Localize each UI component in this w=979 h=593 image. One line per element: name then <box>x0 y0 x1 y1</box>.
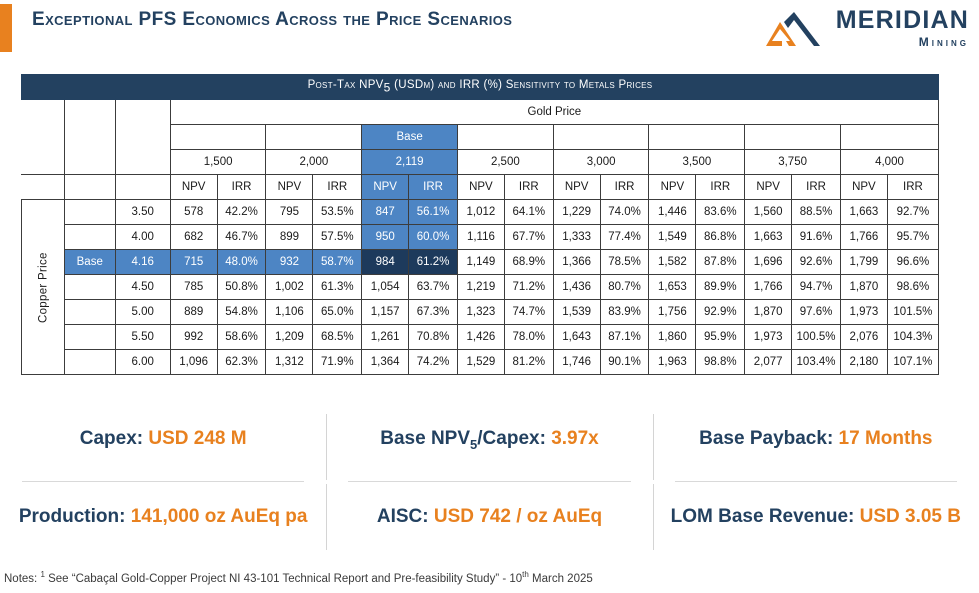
table-row: Copper Price3.5057842.2%79553.5%84756.1%… <box>22 200 939 225</box>
data-cell: 74.2% <box>409 350 458 375</box>
metric-value: 141,000 oz AuEq pa <box>131 506 308 527</box>
base-tag-spacer <box>745 125 841 150</box>
data-cell: 847 <box>362 200 409 225</box>
base-row-spacer <box>64 275 115 300</box>
company-logo: MERIDIAN Mining <box>764 8 969 48</box>
data-cell: 1,663 <box>840 200 887 225</box>
data-cell: 899 <box>266 225 313 250</box>
data-cell: 1,973 <box>745 325 792 350</box>
data-cell: 61.2% <box>409 250 458 275</box>
data-cell: 785 <box>170 275 217 300</box>
data-cell: 992 <box>170 325 217 350</box>
data-cell: 2,077 <box>745 350 792 375</box>
data-cell: 98.8% <box>696 350 745 375</box>
data-cell: 98.6% <box>887 275 938 300</box>
metric-card: AISC: USD 742 / oz AuEq <box>326 482 652 552</box>
metric-value: USD 742 / oz AuEq <box>434 506 602 527</box>
base-row-spacer <box>64 200 115 225</box>
data-cell: 1,870 <box>745 300 792 325</box>
metric-text: Base NPV5/Capex: 3.97x <box>380 428 598 452</box>
data-cell: 42.2% <box>217 200 266 225</box>
data-cell: 57.5% <box>313 225 362 250</box>
metric-text: LOM Base Revenue: USD 3.05 B <box>671 506 961 528</box>
data-cell: 984 <box>362 250 409 275</box>
data-cell: 58.7% <box>313 250 362 275</box>
data-cell: 1,261 <box>362 325 409 350</box>
mountain-logo-icon <box>764 8 826 48</box>
table-row: 5.0088954.8%1,10665.0%1,15767.3%1,32374.… <box>22 300 939 325</box>
data-cell: 682 <box>170 225 217 250</box>
data-cell: 1,963 <box>649 350 696 375</box>
data-cell: 1,529 <box>457 350 504 375</box>
sub-header-npv: NPV <box>170 175 217 200</box>
data-cell: 70.8% <box>409 325 458 350</box>
data-cell: 83.6% <box>696 200 745 225</box>
data-cell: 1,766 <box>840 225 887 250</box>
data-cell: 61.3% <box>313 275 362 300</box>
corner-blank-4 <box>22 175 65 200</box>
table-row: 4.0068246.7%89957.5%95060.0%1,11667.7%1,… <box>22 225 939 250</box>
table-row: Base4.1671548.0%93258.7%98461.2%1,14968.… <box>22 250 939 275</box>
data-cell: 1,446 <box>649 200 696 225</box>
data-cell: 103.4% <box>792 350 841 375</box>
corner-blank <box>22 100 65 175</box>
data-cell: 1,157 <box>362 300 409 325</box>
sub-header-npv: NPV <box>457 175 504 200</box>
sub-header-irr: IRR <box>792 175 841 200</box>
data-cell: 932 <box>266 250 313 275</box>
data-cell: 71.2% <box>504 275 553 300</box>
base-row-spacer <box>64 325 115 350</box>
logo-wordmark: MERIDIAN Mining <box>836 8 969 48</box>
gold-price-3500: 3,500 <box>649 150 745 175</box>
metrics-section: Capex: USD 248 MBase NPV5/Capex: 3.97xBa… <box>0 412 979 552</box>
data-cell: 54.8% <box>217 300 266 325</box>
data-cell: 1,653 <box>649 275 696 300</box>
base-tag-spacer <box>170 125 266 150</box>
base-row-spacer <box>64 225 115 250</box>
data-cell: 67.7% <box>504 225 553 250</box>
copper-price-600: 6.00 <box>115 350 170 375</box>
data-cell: 92.7% <box>887 200 938 225</box>
data-cell: 68.5% <box>313 325 362 350</box>
corner-blank-5 <box>64 175 115 200</box>
copper-price-450: 4.50 <box>115 275 170 300</box>
data-cell: 87.8% <box>696 250 745 275</box>
gold-price-2119: 2,119 <box>362 150 458 175</box>
data-cell: 1,106 <box>266 300 313 325</box>
data-cell: 1,766 <box>745 275 792 300</box>
data-cell: 1,436 <box>553 275 600 300</box>
table-row: 6.001,09662.3%1,31271.9%1,36474.2%1,5298… <box>22 350 939 375</box>
corner-blank-2 <box>64 100 115 175</box>
data-cell: 83.9% <box>600 300 649 325</box>
sensitivity-table: Post-Tax NPV5 (USDm) and IRR (%) Sensiti… <box>21 74 939 375</box>
logo-main-text: MERIDIAN <box>836 8 969 33</box>
data-cell: 95.9% <box>696 325 745 350</box>
copper-price-500: 5.00 <box>115 300 170 325</box>
base-tag-spacer <box>649 125 745 150</box>
data-cell: 1,364 <box>362 350 409 375</box>
slide-root: Exceptional PFS Economics Across the Pri… <box>0 0 979 593</box>
logo-sub-text: Mining <box>919 36 969 48</box>
data-cell: 48.0% <box>217 250 266 275</box>
metric-card: LOM Base Revenue: USD 3.05 B <box>653 482 979 552</box>
data-cell: 97.6% <box>792 300 841 325</box>
sub-header-irr: IRR <box>600 175 649 200</box>
metric-value: 3.97x <box>551 428 599 449</box>
data-cell: 889 <box>170 300 217 325</box>
data-cell: 1,870 <box>840 275 887 300</box>
metric-text: AISC: USD 742 / oz AuEq <box>377 506 602 528</box>
data-cell: 1,312 <box>266 350 313 375</box>
data-cell: 64.1% <box>504 200 553 225</box>
metrics-row-2: Production: 141,000 oz AuEq paAISC: USD … <box>0 482 979 552</box>
metric-card: Base Payback: 17 Months <box>653 412 979 482</box>
data-cell: 92.6% <box>792 250 841 275</box>
data-cell: 795 <box>266 200 313 225</box>
data-cell: 1,539 <box>553 300 600 325</box>
accent-bar <box>0 4 12 52</box>
data-cell: 104.3% <box>887 325 938 350</box>
data-cell: 90.1% <box>600 350 649 375</box>
sub-header-irr: IRR <box>409 175 458 200</box>
copper-price-400: 4.00 <box>115 225 170 250</box>
data-cell: 95.7% <box>887 225 938 250</box>
base-row-tag: Base <box>64 250 115 275</box>
data-cell: 1,426 <box>457 325 504 350</box>
data-cell: 92.9% <box>696 300 745 325</box>
data-cell: 1,756 <box>649 300 696 325</box>
sub-header-npv: NPV <box>266 175 313 200</box>
data-cell: 62.3% <box>217 350 266 375</box>
data-cell: 100.5% <box>792 325 841 350</box>
data-cell: 1,663 <box>745 225 792 250</box>
data-cell: 78.0% <box>504 325 553 350</box>
gold-price-2000: 2,000 <box>266 150 362 175</box>
metric-value: USD 3.05 B <box>860 506 961 527</box>
gold-price-2500: 2,500 <box>457 150 553 175</box>
data-cell: 1,219 <box>457 275 504 300</box>
base-tag-spacer <box>840 125 938 150</box>
gold-price-header-row: Gold Price <box>22 100 939 125</box>
data-cell: 1,582 <box>649 250 696 275</box>
table-banner: Post-Tax NPV5 (USDm) and IRR (%) Sensiti… <box>22 75 939 100</box>
gold-price-label: Gold Price <box>170 100 938 125</box>
base-row-spacer <box>64 350 115 375</box>
gold-price-1500: 1,500 <box>170 150 266 175</box>
sub-header-irr: IRR <box>217 175 266 200</box>
data-cell: 101.5% <box>887 300 938 325</box>
sub-header-irr: IRR <box>887 175 938 200</box>
data-cell: 2,076 <box>840 325 887 350</box>
sub-header-npv: NPV <box>840 175 887 200</box>
data-cell: 63.7% <box>409 275 458 300</box>
footer-note: Notes: 1 See “Cabaçal Gold-Copper Projec… <box>4 570 593 585</box>
table-row: 5.5099258.6%1,20968.5%1,26170.8%1,42678.… <box>22 325 939 350</box>
data-cell: 1,746 <box>553 350 600 375</box>
sub-header-irr: IRR <box>504 175 553 200</box>
gold-price-3750: 3,750 <box>745 150 841 175</box>
data-cell: 107.1% <box>887 350 938 375</box>
data-cell: 1,096 <box>170 350 217 375</box>
data-cell: 50.8% <box>217 275 266 300</box>
copper-price-550: 5.50 <box>115 325 170 350</box>
data-cell: 68.9% <box>504 250 553 275</box>
data-cell: 1,209 <box>266 325 313 350</box>
data-cell: 46.7% <box>217 225 266 250</box>
data-cell: 1,012 <box>457 200 504 225</box>
data-cell: 88.5% <box>792 200 841 225</box>
corner-blank-6 <box>115 175 170 200</box>
data-cell: 1,799 <box>840 250 887 275</box>
data-cell: 96.6% <box>887 250 938 275</box>
data-cell: 1,149 <box>457 250 504 275</box>
gold-price-3000: 3,000 <box>553 150 649 175</box>
data-cell: 74.0% <box>600 200 649 225</box>
data-cell: 94.7% <box>792 275 841 300</box>
data-cell: 78.5% <box>600 250 649 275</box>
data-cell: 1,229 <box>553 200 600 225</box>
sub-header-irr: IRR <box>696 175 745 200</box>
page-title: Exceptional PFS Economics Across the Pri… <box>32 9 512 31</box>
metrics-row-1: Capex: USD 248 MBase NPV5/Capex: 3.97xBa… <box>0 412 979 482</box>
metric-text: Production: 141,000 oz AuEq pa <box>19 506 308 528</box>
table-banner-row: Post-Tax NPV5 (USDm) and IRR (%) Sensiti… <box>22 75 939 100</box>
base-tag-spacer <box>457 125 553 150</box>
data-cell: 1,560 <box>745 200 792 225</box>
metric-value: USD 248 M <box>148 428 246 449</box>
data-cell: 1,643 <box>553 325 600 350</box>
table-row: 4.5078550.8%1,00261.3%1,05463.7%1,21971.… <box>22 275 939 300</box>
data-cell: 56.1% <box>409 200 458 225</box>
data-cell: 65.0% <box>313 300 362 325</box>
data-cell: 74.7% <box>504 300 553 325</box>
data-cell: 1,054 <box>362 275 409 300</box>
data-cell: 80.7% <box>600 275 649 300</box>
data-cell: 81.2% <box>504 350 553 375</box>
data-cell: 1,696 <box>745 250 792 275</box>
base-tag: Base <box>362 125 458 150</box>
data-cell: 1,333 <box>553 225 600 250</box>
row-group-label: Copper Price <box>22 200 65 375</box>
sub-header-npv: NPV <box>553 175 600 200</box>
data-cell: 715 <box>170 250 217 275</box>
data-cell: 53.5% <box>313 200 362 225</box>
data-cell: 1,366 <box>553 250 600 275</box>
metric-text: Capex: USD 248 M <box>80 428 247 450</box>
data-cell: 1,002 <box>266 275 313 300</box>
metric-card: Capex: USD 248 M <box>0 412 326 482</box>
sub-header-npv: NPV <box>649 175 696 200</box>
sub-header-irr: IRR <box>313 175 362 200</box>
metric-text: Base Payback: 17 Months <box>699 428 932 450</box>
data-cell: 1,116 <box>457 225 504 250</box>
data-cell: 86.8% <box>696 225 745 250</box>
data-cell: 2,180 <box>840 350 887 375</box>
sub-header-row: NPVIRRNPVIRRNPVIRRNPVIRRNPVIRRNPVIRRNPVI… <box>22 175 939 200</box>
data-cell: 67.3% <box>409 300 458 325</box>
gold-price-4000: 4,000 <box>840 150 938 175</box>
base-tag-spacer <box>553 125 649 150</box>
data-cell: 91.6% <box>792 225 841 250</box>
sub-header-npv: NPV <box>745 175 792 200</box>
data-cell: 60.0% <box>409 225 458 250</box>
data-cell: 578 <box>170 200 217 225</box>
corner-blank-3 <box>115 100 170 175</box>
data-cell: 1,549 <box>649 225 696 250</box>
data-cell: 58.6% <box>217 325 266 350</box>
data-cell: 1,323 <box>457 300 504 325</box>
data-cell: 89.9% <box>696 275 745 300</box>
base-row-spacer <box>64 300 115 325</box>
metric-card: Production: 141,000 oz AuEq pa <box>0 482 326 552</box>
metric-value: 17 Months <box>839 428 933 449</box>
data-cell: 1,860 <box>649 325 696 350</box>
copper-price-350: 3.50 <box>115 200 170 225</box>
metric-card: Base NPV5/Capex: 3.97x <box>326 412 652 482</box>
sub-header-npv: NPV <box>362 175 409 200</box>
data-cell: 77.4% <box>600 225 649 250</box>
sensitivity-table-wrapper: Post-Tax NPV5 (USDm) and IRR (%) Sensiti… <box>21 74 939 375</box>
data-cell: 950 <box>362 225 409 250</box>
data-cell: 87.1% <box>600 325 649 350</box>
base-tag-spacer <box>266 125 362 150</box>
copper-price-416: 4.16 <box>115 250 170 275</box>
data-cell: 1,973 <box>840 300 887 325</box>
data-cell: 71.9% <box>313 350 362 375</box>
